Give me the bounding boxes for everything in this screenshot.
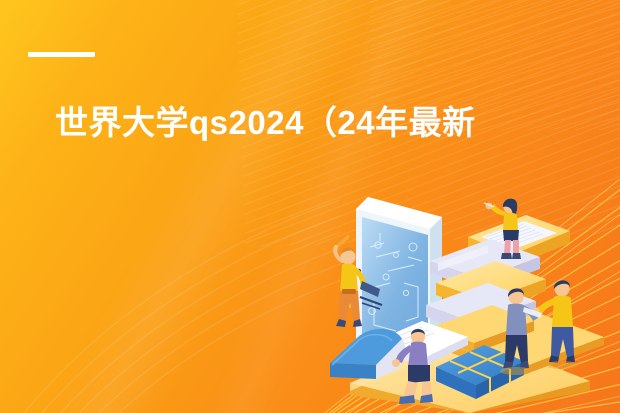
banner-card: 世界大学qs2024（24年最新 <box>0 0 620 413</box>
accent-rule <box>28 52 95 57</box>
wave-lines-bottom-left <box>0 183 340 413</box>
illustration <box>318 185 620 413</box>
page-title: 世界大学qs2024（24年最新 <box>55 103 620 143</box>
